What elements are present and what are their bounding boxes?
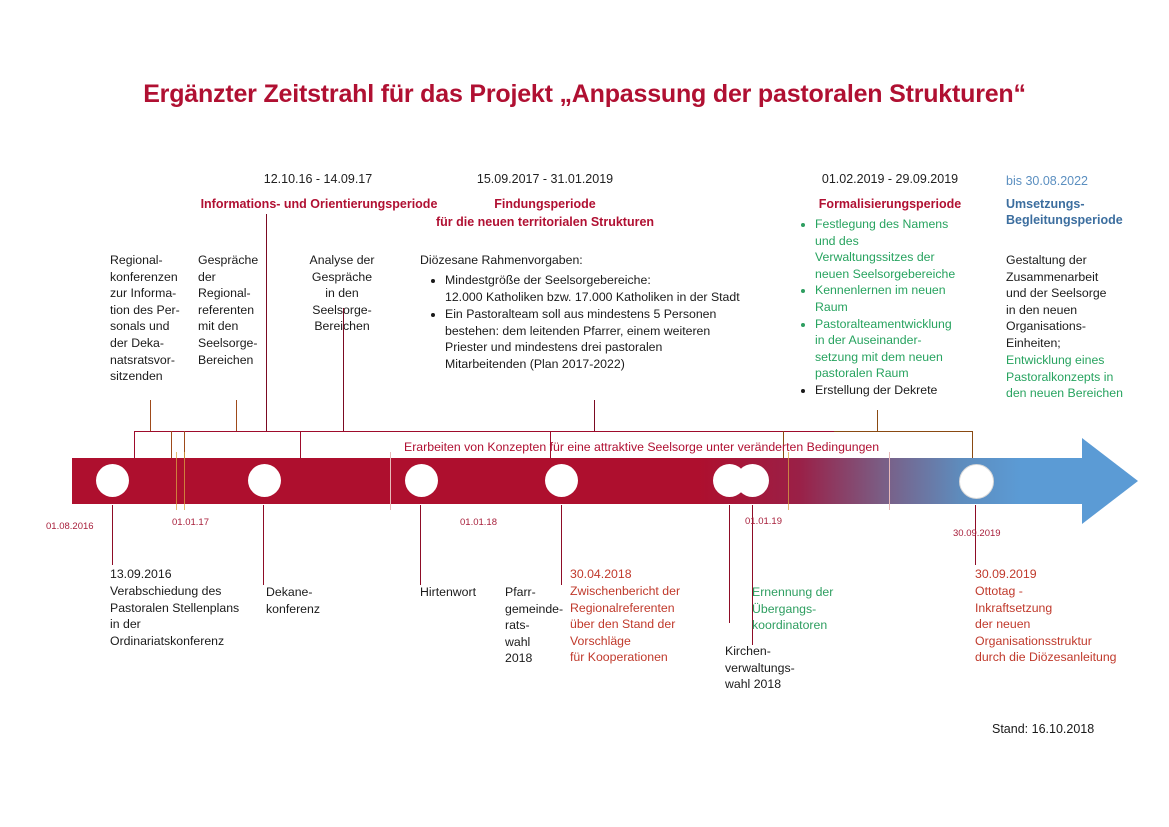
- axis-tick-line-4: [561, 505, 562, 585]
- period-3-heading: Formalisierungsperiode: [790, 196, 990, 212]
- period-2-intro: Diözesane Rahmenvorgaben:: [420, 252, 800, 269]
- milestone-text-hirtenwort: Hirtenwort: [420, 584, 500, 601]
- bracket-end-right: [972, 431, 973, 459]
- bracket-horizontal-right: [834, 431, 973, 432]
- period-4-body-black: Gestaltung der Zusammenarbeit und der Se…: [1006, 252, 1156, 352]
- axis-label-5: 30.09.2019: [953, 528, 1001, 539]
- period-4-body-green: Entwicklung eines Pastoralkonzepts in de…: [1006, 352, 1158, 402]
- period-1-column-regionalkonferenzen: Regional- konferenzen zur Informa- tion …: [110, 252, 190, 385]
- bracket-tick-c: [300, 431, 301, 459]
- milestone-text-dekanekonferenz: Dekane- konferenz: [266, 584, 356, 617]
- footer-stand: Stand: 16.10.2018: [992, 722, 1094, 736]
- axis-label-3: 01.01.18: [460, 517, 497, 528]
- axis-label-4: 01.01.19: [745, 516, 782, 527]
- milestone-text-verabschiedung: Verabschiedung des Pastoralen Stellenpla…: [110, 583, 262, 649]
- connector-line-regionalkonferenzen: [150, 400, 151, 432]
- bracket-end-left: [134, 431, 135, 459]
- milestone-dot-3[interactable]: [405, 464, 438, 497]
- period-4-heading-line-1: Umsetzungs-: [1006, 196, 1156, 212]
- axis-label-2: 01.01.17: [172, 517, 209, 528]
- period-3-bullet-list: Festlegung des Namens und des Verwaltung…: [798, 216, 988, 399]
- period-2-date-range: 15.09.2017 - 31.01.2019: [400, 172, 690, 187]
- period-3-bullet-4: Erstellung der Dekrete: [798, 382, 988, 399]
- axis-label-1: 01.08.2016: [46, 521, 94, 532]
- bar-divider-3: [390, 452, 391, 510]
- milestone-dot-2[interactable]: [248, 464, 281, 497]
- axis-tick-line-1: [112, 505, 113, 565]
- axis-tick-line-2: [263, 505, 264, 585]
- bracket-horizontal-left: [134, 431, 834, 432]
- page-title: Ergänzter Zeitstrahl für das Projekt „An…: [0, 80, 1169, 109]
- milestone-text-zwischenbericht: Zwischenbericht der Regionalreferenten ü…: [570, 583, 732, 666]
- bar-divider-4: [788, 452, 789, 510]
- connector-line-findungsperiode: [594, 400, 595, 432]
- milestone-text-ernennung: Ernennung der Übergangs- koordinatoren: [752, 584, 872, 634]
- bar-divider-1: [176, 452, 177, 510]
- bar-divider-2: [184, 452, 185, 510]
- period-4-heading-line-2: Begleitungsperiode: [1006, 212, 1156, 228]
- period-2-heading-line-1: Findungsperiode: [400, 196, 690, 212]
- period-2-bullet-list: Mindestgröße der Seelsorgebereiche: 12.0…: [428, 272, 828, 373]
- period-1-column-gespraeche: Gespräche der Regional- referenten mit d…: [198, 252, 270, 368]
- period-3-bullet-2: Kennenlernen im neuen Raum: [798, 282, 988, 315]
- connector-line-analyse-top: [266, 214, 267, 432]
- axis-tick-line-3: [420, 505, 421, 585]
- period-4-date-range: bis 30.08.2022: [1006, 174, 1156, 189]
- timeline-arrow-head: [1082, 438, 1138, 524]
- milestone-dot-6[interactable]: [736, 464, 769, 497]
- milestone-dot-1[interactable]: [96, 464, 129, 497]
- milestone-date-verabschiedung: 13.09.2016: [110, 566, 260, 583]
- period-3-bullet-3: Pastoralteamentwicklung in der Auseinand…: [798, 316, 988, 382]
- bracket-caption: Erarbeiten von Konzepten für eine attrak…: [404, 440, 879, 454]
- period-3-bullet-1: Festlegung des Namens und des Verwaltung…: [798, 216, 988, 282]
- period-3-date-range: 01.02.2019 - 29.09.2019: [790, 172, 990, 187]
- milestone-text-kirchenverwaltungswahl: Kirchen- verwaltungs- wahl 2018: [725, 643, 815, 693]
- period-2-bullet-2: Ein Pastoralteam soll aus mindestens 5 P…: [428, 306, 828, 372]
- connector-line-analyse-bottom: [343, 308, 344, 432]
- milestone-date-ottotag: 30.09.2019: [975, 566, 1155, 583]
- milestone-dot-7[interactable]: [959, 464, 994, 499]
- period-2-bullet-1: Mindestgröße der Seelsorgebereiche: 12.0…: [428, 272, 828, 305]
- connector-line-gespraeche: [236, 400, 237, 432]
- milestone-text-pfarrgemeinderatswahl: Pfarr- gemeinde- rats- wahl 2018: [505, 584, 569, 667]
- milestone-text-ottotag: Ottotag - Inkraftsetzung der neuen Organ…: [975, 583, 1157, 666]
- connector-line-formalisierung: [877, 410, 878, 432]
- period-2-heading-line-2: für die neuen territorialen Strukturen: [400, 214, 690, 230]
- milestone-dot-4[interactable]: [545, 464, 578, 497]
- period-1-column-analyse: Analyse der Gespräche in den Seelsorge- …: [294, 252, 390, 335]
- bar-divider-5: [889, 452, 890, 510]
- bracket-tick-a: [171, 431, 172, 459]
- milestone-date-zwischenbericht: 30.04.2018: [570, 566, 730, 583]
